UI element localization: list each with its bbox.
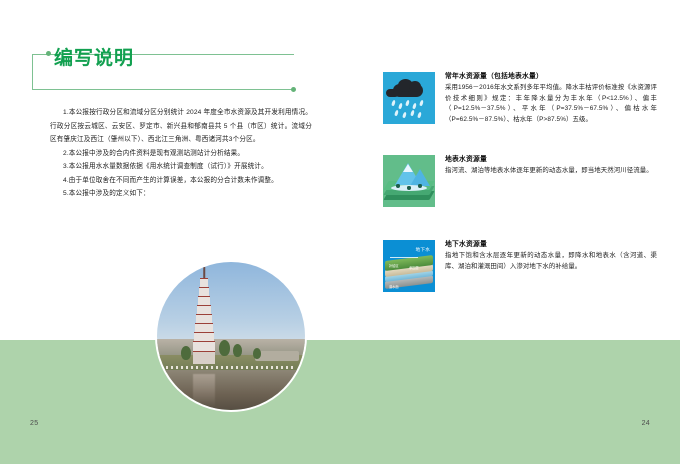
page-number-left: 25 [30, 420, 38, 427]
bracket-start-dot-icon [46, 51, 51, 56]
explanation-item: 1.本公报按行政分区和流域分区分别统计 2024 年度全市水资源及其开发利用情况… [50, 106, 312, 147]
boat-icon [407, 186, 411, 190]
groundwater-section-icon: 地下水 补给区 承压层 潜水面 [383, 240, 435, 292]
document-spread: 编写说明 1.本公报按行政分区和流域分区分别统计 2024 年度全市水资源及其开… [0, 0, 680, 464]
raindrop-icon [394, 110, 399, 117]
boat-icon [418, 184, 422, 188]
pagoda-tier [196, 314, 212, 323]
bracket-end-dot-icon [291, 87, 296, 92]
raindrop-icon [398, 103, 403, 110]
raindrop-icon [419, 100, 424, 107]
raindrop-icon [402, 112, 407, 119]
card-title: 常年水资源量（包括地表水量） [445, 72, 657, 82]
photo-bridge [255, 351, 299, 361]
raindrop-icon [412, 103, 417, 110]
pagoda-tier [199, 287, 209, 296]
explanation-item: 2.本公报中涉及的合内件资料是现有观测站测站计分析结果。 [50, 147, 312, 161]
card-title: 地表水资源量 [445, 155, 657, 165]
card-title: 地下水资源量 [445, 240, 657, 250]
photo-tree [181, 346, 191, 360]
info-card-annual-water-resources: 常年水资源量（包括地表水量） 采用1956－2016年水文系列多年平均值。降水丰… [383, 72, 658, 125]
left-page: 编写说明 1.本公报按行政分区和流域分区分别统计 2024 年度全市水资源及其开… [0, 0, 340, 464]
pagoda-tower [193, 278, 215, 364]
pagoda-tier [194, 332, 214, 341]
card-text: 常年水资源量（包括地表水量） 采用1956－2016年水文系列多年平均值。降水丰… [445, 72, 657, 125]
groundwater-tag: 补给区 [389, 263, 399, 268]
pagoda-tier [197, 305, 211, 314]
raindrop-icon [417, 112, 422, 119]
groundwater-leader-line [390, 257, 418, 258]
photo-tree [233, 344, 242, 357]
photo-sky [157, 262, 305, 345]
pagoda-tier [198, 296, 210, 305]
groundwater-tag: 承压层 [409, 265, 419, 270]
card-description: 采用1956－2016年水文系列多年平均值。降水丰枯评价标准按《水资源评价技术细… [445, 83, 657, 125]
raindrop-icon [410, 110, 415, 117]
page-number-right: 24 [642, 420, 650, 427]
info-card-surface-water-resources: 地表水资源量 指河流、湖泊等地表水体逐年更新的动态水量，即当地天然河川径流量。 [383, 155, 658, 207]
photo-tree [253, 348, 261, 359]
raindrop-icon [405, 100, 410, 107]
photo-railing [166, 366, 296, 369]
explanation-item: 5.本公报中涉及的定义如下： [50, 187, 312, 201]
photo-tree [219, 340, 230, 356]
pagoda-tier [195, 323, 213, 332]
groundwater-tag: 潜水面 [389, 284, 399, 289]
boat-icon [396, 184, 400, 188]
explanation-item: 4.由于单位取舍在不同而产生的计算误差，本公报的分合计数未作调整。 [50, 174, 312, 188]
mountain-snow-cap [403, 164, 413, 172]
page-title: 编写说明 [54, 48, 134, 70]
cloud-bump-shape [409, 81, 421, 92]
explanation-list: 1.本公报按行政分区和流域分区分别统计 2024 年度全市水资源及其开发利用情况… [50, 106, 312, 201]
raindrop-icon [391, 100, 396, 107]
info-card-groundwater-resources: 地下水 补给区 承压层 潜水面 地下水资源量 指地下饱和含水层逐年更新的动态水量… [383, 240, 658, 292]
rain-cloud-icon [383, 72, 435, 124]
pagoda-base [193, 351, 215, 364]
photo-river-water [157, 370, 305, 410]
pagoda-tier [200, 278, 208, 287]
card-description: 指地下饱和含水层逐年更新的动态水量，即降水和地表水（含河道、渠库、湖泊和灌溉田间… [445, 251, 657, 272]
card-description: 指河流、湖泊等地表水体逐年更新的动态水量，即当地天然河川径流量。 [445, 166, 657, 177]
pagoda-tier [193, 341, 215, 351]
card-text: 地表水资源量 指河流、湖泊等地表水体逐年更新的动态水量，即当地天然河川径流量。 [445, 155, 657, 177]
mountain-lake-icon [383, 155, 435, 207]
groundwater-icon-label: 地下水 [416, 247, 430, 253]
title-block: 编写说明 [32, 48, 300, 94]
pagoda-reflection [193, 374, 215, 408]
right-page: 常年水资源量（包括地表水量） 采用1956－2016年水文系列多年平均值。降水丰… [340, 0, 680, 464]
explanation-item: 3.本公报用水水量数据依据《用水统计调查制度（试行）》开展统计。 [50, 160, 312, 174]
pagoda-riverside-photo [155, 260, 307, 412]
card-text: 地下水资源量 指地下饱和含水层逐年更新的动态水量，即降水和地表水（含河道、渠库、… [445, 240, 657, 272]
